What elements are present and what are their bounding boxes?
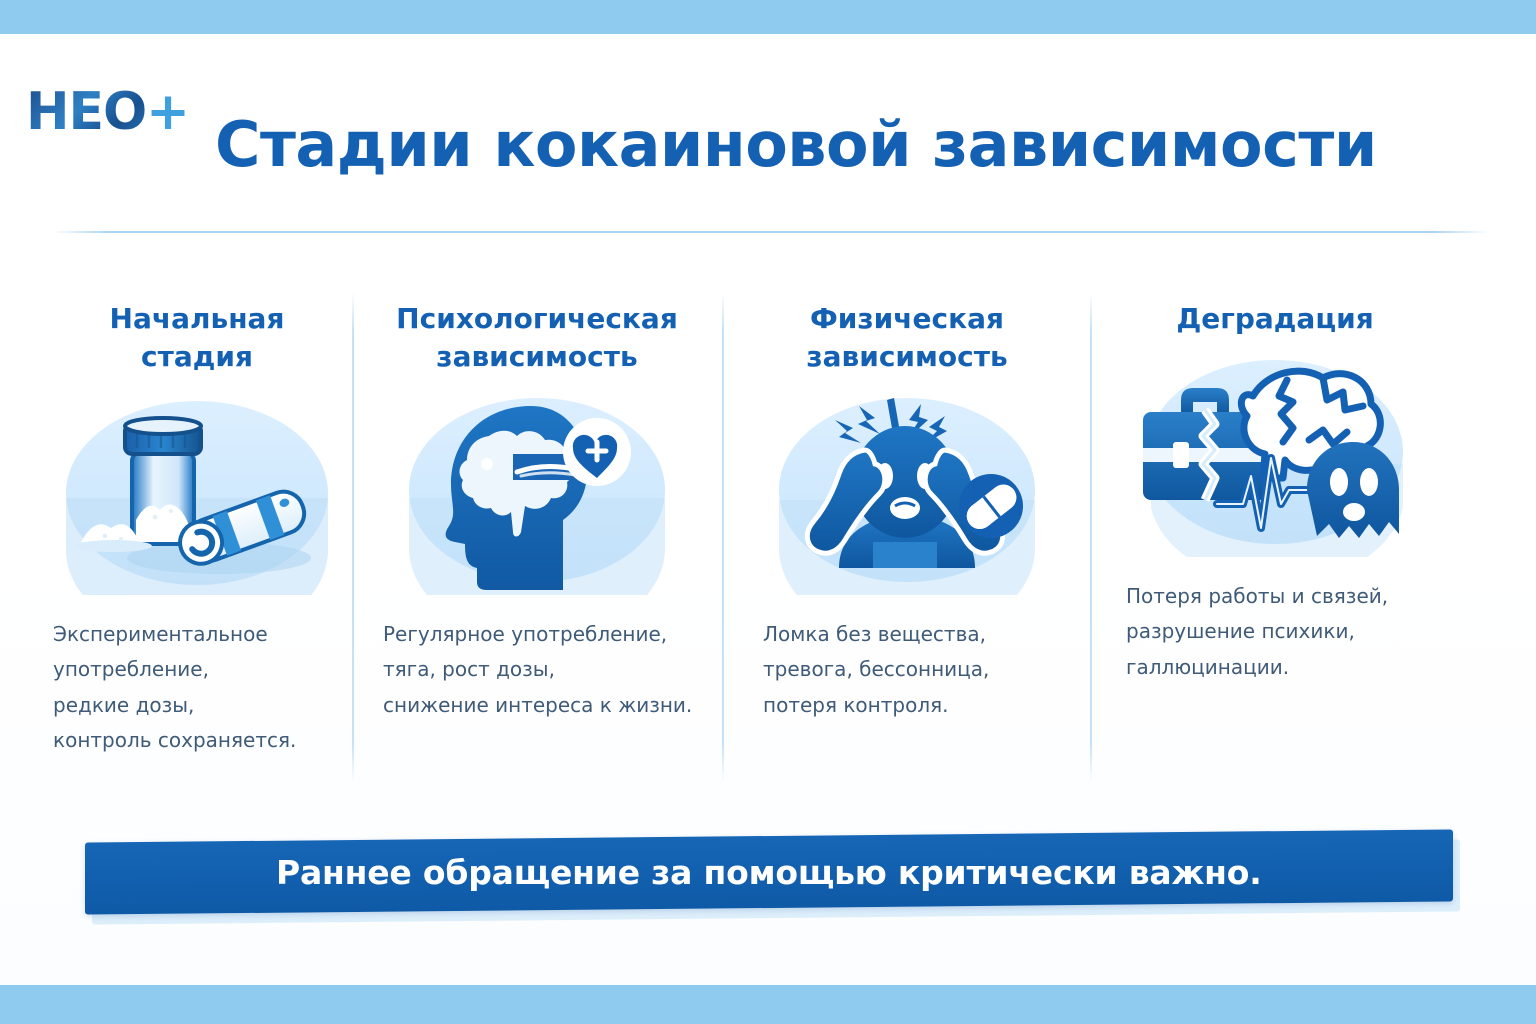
stage-heading: Психологическая зависимость: [396, 300, 678, 376]
top-accent-band: [0, 0, 1536, 34]
content-card: HEO+ Стадии кокаиновой зависимости Начал…: [0, 34, 1536, 985]
stage-column-2: Психологическая зависимость: [372, 284, 702, 804]
stage-description: Регулярное употребление, тяга, рост дозы…: [371, 617, 703, 724]
banner-text: Раннее обращение за помощью критически в…: [276, 853, 1262, 892]
bottom-accent-band: [0, 985, 1536, 1024]
stage-column-4: Деградация: [1110, 284, 1440, 804]
title-divider: [52, 231, 1490, 233]
page-title: Стадии кокаиновой зависимости: [215, 112, 1315, 177]
stage-description: Ломка без вещества, тревога, бессонница,…: [751, 617, 1063, 724]
stage-heading: Начальная стадия: [110, 300, 285, 376]
brand-logo: HEO+: [26, 86, 189, 138]
stage-description: Экспериментальное употребление, редкие д…: [41, 617, 353, 759]
stage-column-1: Начальная стадия: [32, 284, 362, 804]
broken-briefcase-brain-ghost-icon: [1137, 352, 1413, 557]
column-divider-3: [1090, 292, 1092, 782]
call-to-action-banner: Раннее обращение за помощью критически в…: [85, 829, 1453, 914]
stages-row: Начальная стадия: [0, 284, 1536, 804]
column-divider-2: [722, 292, 724, 782]
stage-heading: Физическая зависимость: [806, 300, 1007, 376]
head-brain-heart-plus-icon: [399, 390, 675, 595]
headache-person-pill-icon: [769, 390, 1045, 595]
stage-description: Потеря работы и связей, разрушение психи…: [1114, 579, 1436, 686]
stage-heading: Деградация: [1176, 300, 1373, 338]
logo-plus-icon: +: [146, 82, 189, 142]
infographic-root: HEO+ Стадии кокаиновой зависимости Начал…: [0, 0, 1536, 1024]
logo-text: HEO: [26, 82, 146, 142]
stage-column-3: Физическая зависимость: [742, 284, 1072, 804]
powder-jar-rolled-banknote-icon: [59, 390, 335, 595]
